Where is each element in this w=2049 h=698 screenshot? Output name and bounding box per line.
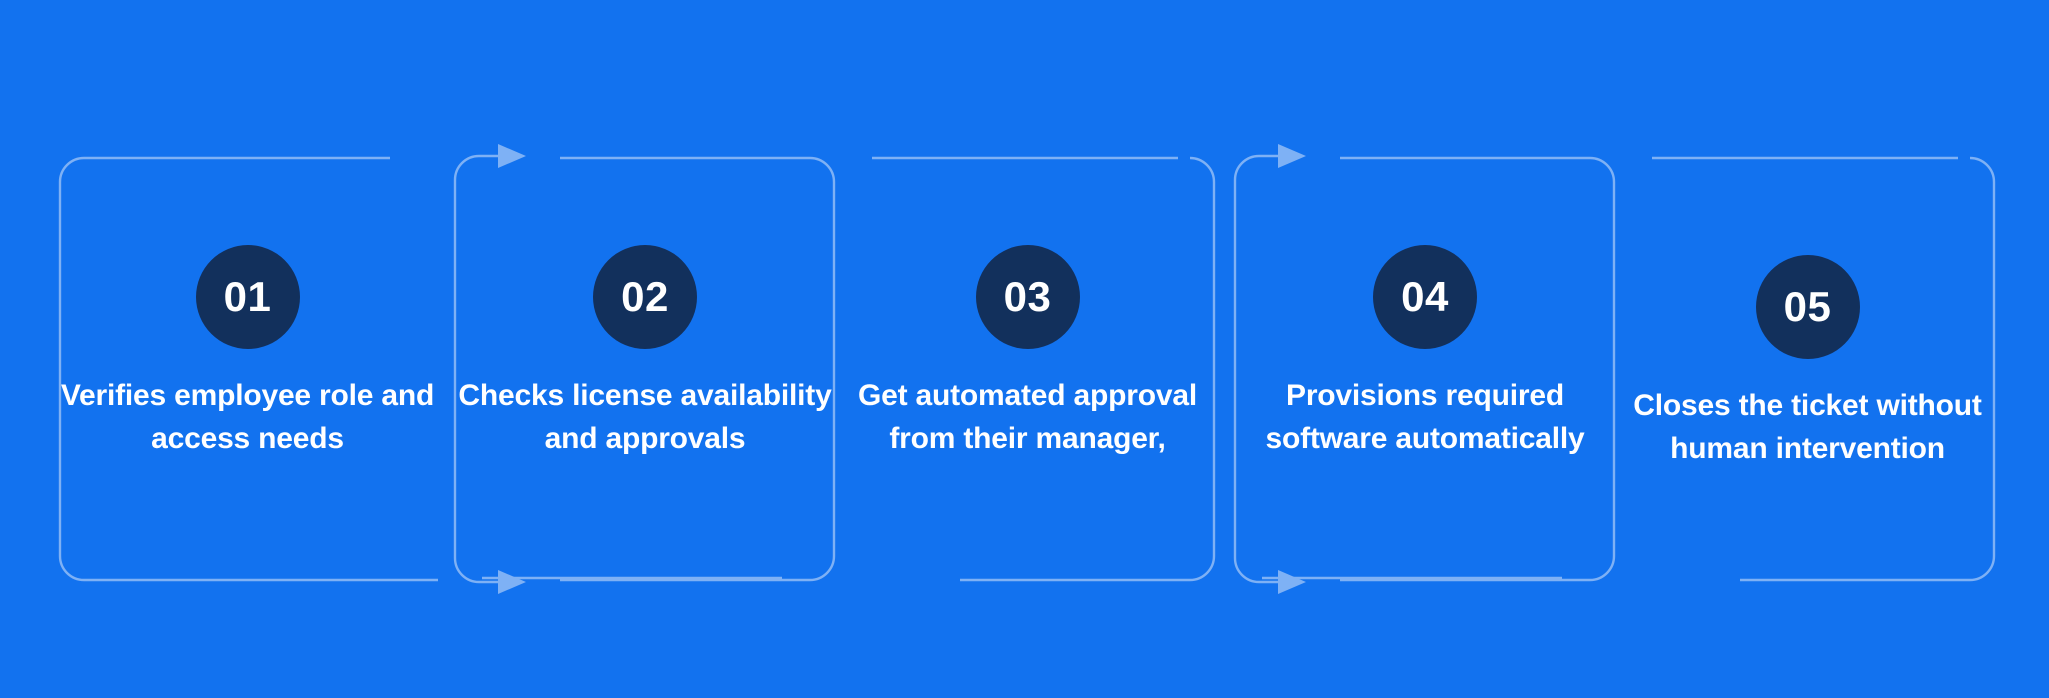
step-number-badge-2: 02 [593,245,697,349]
step-description-3: Get automated approval from their manage… [840,375,1215,460]
arrow-head-2 [498,570,526,594]
card-2-bottom-descender [455,512,500,582]
step-card-3[interactable]: 03 Get automated approval from their man… [840,245,1215,460]
step-card-4[interactable]: 04 Provisions required software automati… [1235,245,1615,460]
step-number-4: 04 [1401,276,1449,318]
card-4-top-riser [1235,156,1280,250]
card-4-bottom-descender [1235,512,1280,582]
step-number-5: 05 [1784,286,1832,328]
step-number-3: 03 [1004,276,1052,318]
card-2-top-riser [455,156,500,250]
step-number-badge-4: 04 [1373,245,1477,349]
arrow-head-1 [498,144,526,168]
step-description-1: Verifies employee role and access needs [60,375,435,460]
step-description-2: Checks license availability and approval… [455,375,835,460]
arrow-head-4 [1278,570,1306,594]
step-number-badge-1: 01 [196,245,300,349]
step-card-2[interactable]: 02 Checks license availability and appro… [455,245,835,460]
step-description-4: Provisions required software automatical… [1235,375,1615,460]
step-number-badge-3: 03 [976,245,1080,349]
arrow-head-3 [1278,144,1306,168]
step-number-1: 01 [224,276,272,318]
step-number-badge-5: 05 [1756,255,1860,359]
step-description-5: Closes the ticket without human interven… [1620,385,1995,470]
step-card-5[interactable]: 05 Closes the ticket without human inter… [1620,255,1995,470]
step-number-2: 02 [621,276,669,318]
process-flow-diagram: .ln { fill:none; stroke:#7eb1f5; stroke-… [0,0,2049,698]
step-card-1[interactable]: 01 Verifies employee role and access nee… [60,245,435,460]
